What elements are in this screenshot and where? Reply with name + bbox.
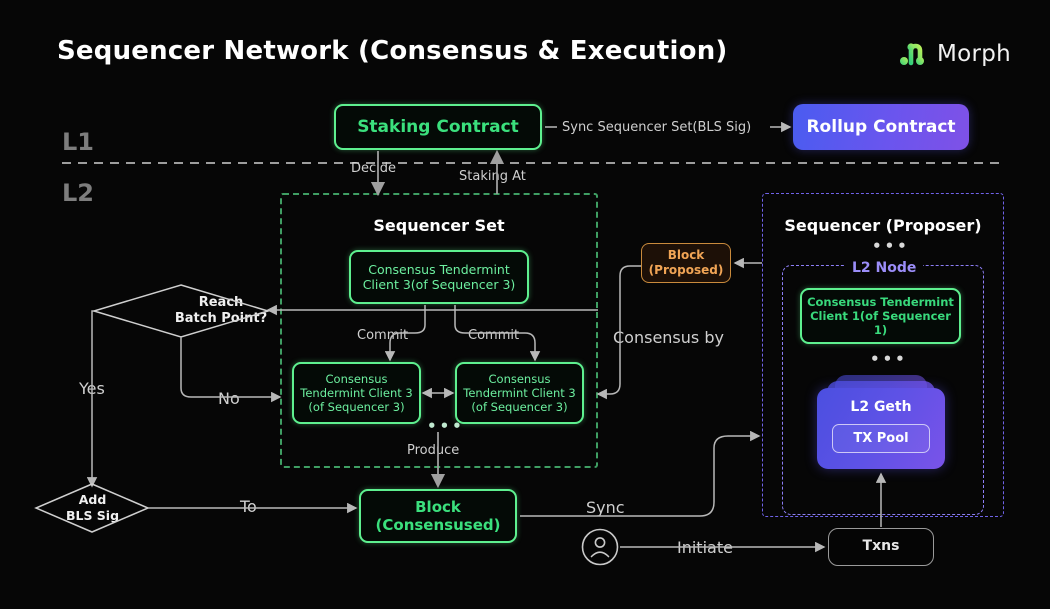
client-line-3: (of Sequencer 3) (308, 400, 404, 414)
diagram-canvas: Sequencer Network (Consensus & Execution… (0, 0, 1050, 609)
brand-name: Morph (937, 41, 1011, 67)
edge-label-sync: Sync (586, 498, 625, 517)
client-line-3: (of Sequencer 3) (471, 400, 567, 414)
tendermint-client-3-right-node[interactable]: Consensus Tendermint Client 3 (of Sequen… (455, 362, 584, 424)
client-line-2: Tendermint Client 3 (463, 386, 575, 400)
l2-geth-stack[interactable]: L2 Geth TX Pool (817, 375, 945, 469)
client-line-1: Consensus Tendermint (807, 295, 954, 309)
layer-label-l2: L2 (62, 179, 94, 207)
block-consensused-node[interactable]: Block (Consensused) (359, 489, 517, 543)
edge-label-commit-left: Commit (357, 328, 408, 343)
txns-node[interactable]: Txns (828, 528, 934, 566)
proposer-ellipsis-top: ••• (872, 237, 910, 255)
geth-main-card[interactable]: L2 Geth TX Pool (817, 388, 945, 469)
client-line-1: Consensus (489, 372, 551, 386)
client-line-2: Client 1(of Sequencer 1) (802, 309, 959, 337)
edge-label-initiate: Initiate (677, 538, 733, 557)
staking-contract-node[interactable]: Staking Contract (334, 104, 542, 150)
client-line-2: Client 3(of Sequencer 3) (363, 277, 516, 292)
decision-line-1: Add (66, 492, 119, 508)
user-avatar[interactable] (581, 528, 619, 566)
edge-label-to: To (240, 497, 257, 516)
page-title: Sequencer Network (Consensus & Execution… (57, 36, 728, 66)
edge-label-no: No (218, 389, 240, 408)
tx-pool-node[interactable]: TX Pool (832, 424, 930, 453)
edge-label-commit-right: Commit (468, 328, 519, 343)
client-line-1: Consensus (326, 372, 388, 386)
edge-label-sync-sequencer-set: Sync Sequencer Set(BLS Sig) (562, 120, 751, 135)
block-line-2: (Proposed) (649, 263, 724, 278)
block-line-2: (Consensused) (376, 516, 501, 534)
decision-line-1: Reach (175, 295, 267, 311)
user-avatar-icon (581, 528, 619, 566)
l2-node-label-wrap: L2 Node (845, 257, 923, 276)
edge-label-yes: Yes (79, 379, 105, 398)
tendermint-client-1-node[interactable]: Consensus Tendermint Client 1(of Sequenc… (800, 288, 961, 344)
rollup-contract-node[interactable]: Rollup Contract (793, 104, 969, 150)
reach-batch-point-decision[interactable]: Reach Batch Point? (50, 285, 312, 337)
block-proposed-node[interactable]: Block (Proposed) (641, 243, 731, 283)
decision-line-2: BLS Sig (66, 508, 119, 524)
sequencer-proposer-title: Sequencer (Proposer) (762, 216, 1004, 235)
l2-geth-label: L2 Geth (850, 399, 911, 415)
edge-no (181, 337, 280, 397)
edge-label-produce: Produce (407, 443, 459, 458)
client-line-2: Tendermint Client 3 (300, 386, 412, 400)
tendermint-client-3-left-node[interactable]: Consensus Tendermint Client 3 (of Sequen… (292, 362, 421, 424)
edge-label-decide: Decide (351, 161, 396, 176)
sequencer-set-title: Sequencer Set (280, 216, 598, 235)
edge-label-consensus-by: Consensus by (613, 328, 724, 347)
proposer-ellipsis-mid: ••• (870, 350, 908, 368)
block-line-1: Block (668, 248, 705, 263)
tendermint-client-3-top-node[interactable]: Consensus Tendermint Client 3(of Sequenc… (349, 250, 529, 304)
morph-logo-icon (900, 40, 930, 68)
l2-node-label: L2 Node (852, 260, 916, 276)
sequencer-set-ellipsis: ••• (427, 417, 465, 435)
brand-logo: Morph (900, 40, 1011, 68)
add-bls-sig-decision[interactable]: Add BLS Sig (45, 483, 140, 533)
block-line-1: Block (415, 498, 461, 516)
edge-yes (92, 311, 94, 486)
tx-pool-label: TX Pool (853, 431, 908, 446)
edge-label-staking-at: Staking At (459, 169, 526, 184)
layer-label-l1: L1 (62, 128, 94, 156)
decision-line-2: Batch Point? (175, 311, 267, 327)
client-line-1: Consensus Tendermint (368, 262, 510, 277)
